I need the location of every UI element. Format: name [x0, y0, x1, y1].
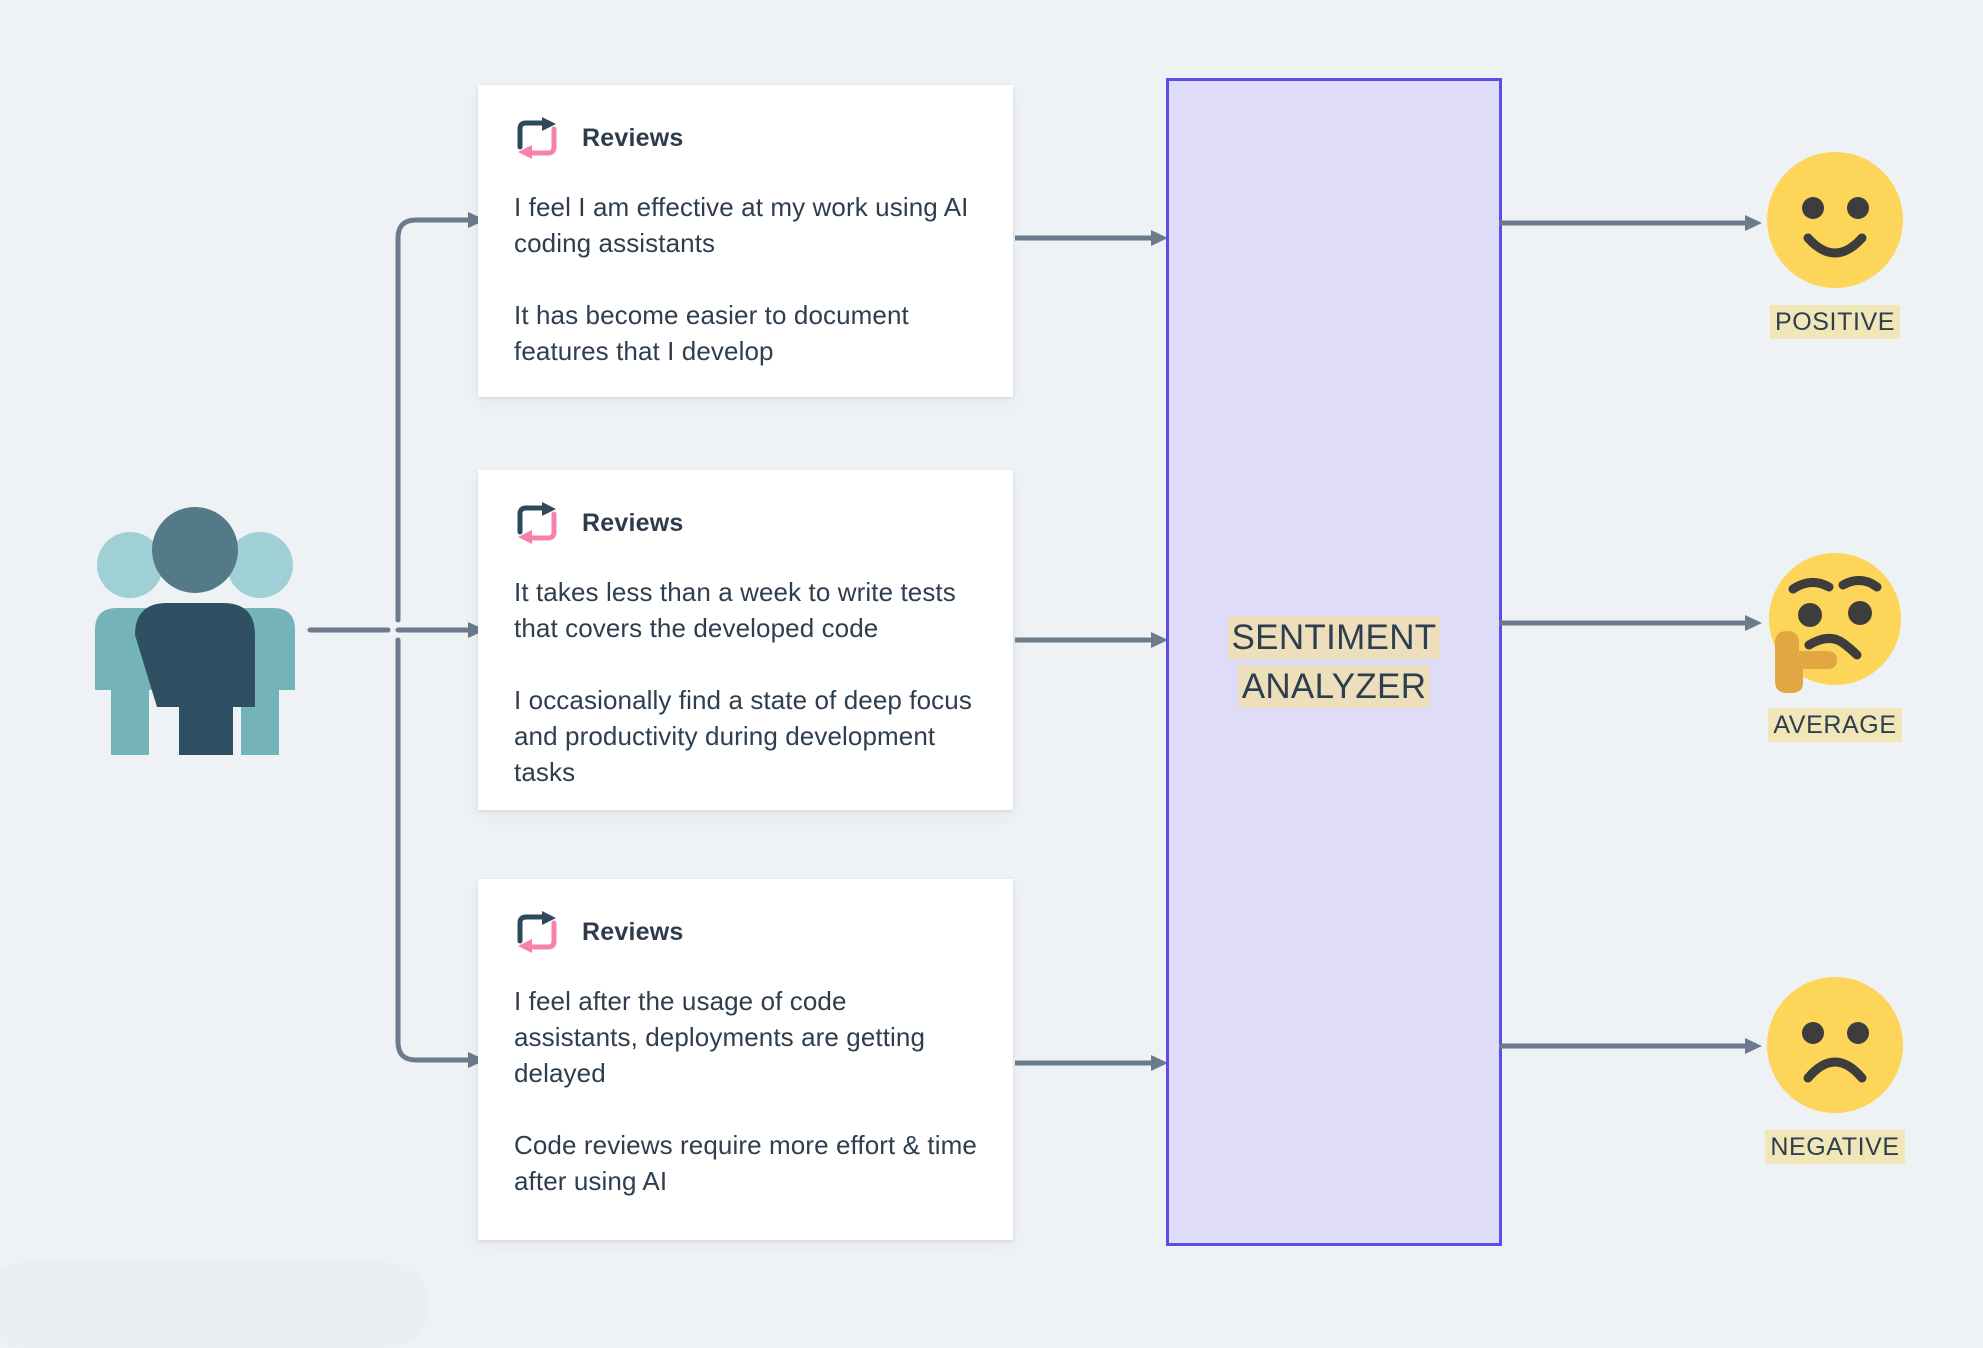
outcome-label: NEGATIVE — [1765, 1133, 1904, 1162]
people-group-icon — [75, 495, 315, 755]
loop-arrows-icon — [514, 502, 560, 544]
smiling-face-icon — [1765, 150, 1905, 290]
thinking-face-icon — [1765, 553, 1905, 693]
loop-arrows-icon — [514, 117, 560, 159]
reviews-card[interactable]: Reviews I feel after the usage of code a… — [478, 879, 1013, 1240]
outcome-negative: NEGATIVE — [1695, 975, 1975, 1162]
analyzer-label: SENTIMENT ANALYZER — [1228, 613, 1441, 711]
analyzer-line-2: ANALYZER — [1238, 665, 1431, 708]
card-body: It takes less than a week to write tests… — [514, 574, 977, 790]
source-to-cards-connector — [300, 210, 500, 1070]
review-quote: It takes less than a week to write tests… — [514, 574, 977, 646]
card-header: Reviews — [514, 502, 977, 544]
outcome-label-text: AVERAGE — [1768, 708, 1901, 742]
review-quote: I feel I am effective at my work using A… — [514, 189, 977, 261]
card-body: I feel I am effective at my work using A… — [514, 189, 977, 369]
review-quote: I occasionally find a state of deep focu… — [514, 682, 977, 790]
outcome-label: AVERAGE — [1768, 711, 1901, 740]
outcome-label-text: POSITIVE — [1770, 305, 1900, 339]
review-quote: I feel after the usage of code assistant… — [514, 983, 977, 1091]
background-decoration — [0, 1262, 430, 1348]
loop-arrows-icon — [514, 911, 560, 953]
card-title: Reviews — [582, 918, 683, 947]
card-to-analyzer-arrow — [1015, 632, 1170, 648]
card-header: Reviews — [514, 911, 977, 953]
card-body: I feel after the usage of code assistant… — [514, 983, 977, 1199]
frowning-face-icon — [1765, 975, 1905, 1115]
outcome-label-text: NEGATIVE — [1765, 1130, 1904, 1164]
card-to-analyzer-arrow — [1015, 230, 1170, 246]
diagram-canvas: Reviews I feel I am effective at my work… — [0, 0, 1983, 1343]
outcome-label: POSITIVE — [1770, 308, 1900, 337]
analyzer-line-1: SENTIMENT — [1228, 616, 1441, 659]
sentiment-analyzer-box[interactable]: SENTIMENT ANALYZER — [1166, 78, 1502, 1246]
outcome-average: AVERAGE — [1695, 553, 1975, 740]
card-title: Reviews — [582, 509, 683, 538]
outcome-positive: POSITIVE — [1695, 150, 1975, 337]
review-quote: It has become easier to document feature… — [514, 297, 977, 369]
reviews-card[interactable]: Reviews It takes less than a week to wri… — [478, 470, 1013, 810]
card-header: Reviews — [514, 117, 977, 159]
card-to-analyzer-arrow — [1015, 1055, 1170, 1071]
card-title: Reviews — [582, 124, 683, 153]
reviews-card[interactable]: Reviews I feel I am effective at my work… — [478, 85, 1013, 397]
review-quote: Code reviews require more effort & time … — [514, 1127, 977, 1199]
